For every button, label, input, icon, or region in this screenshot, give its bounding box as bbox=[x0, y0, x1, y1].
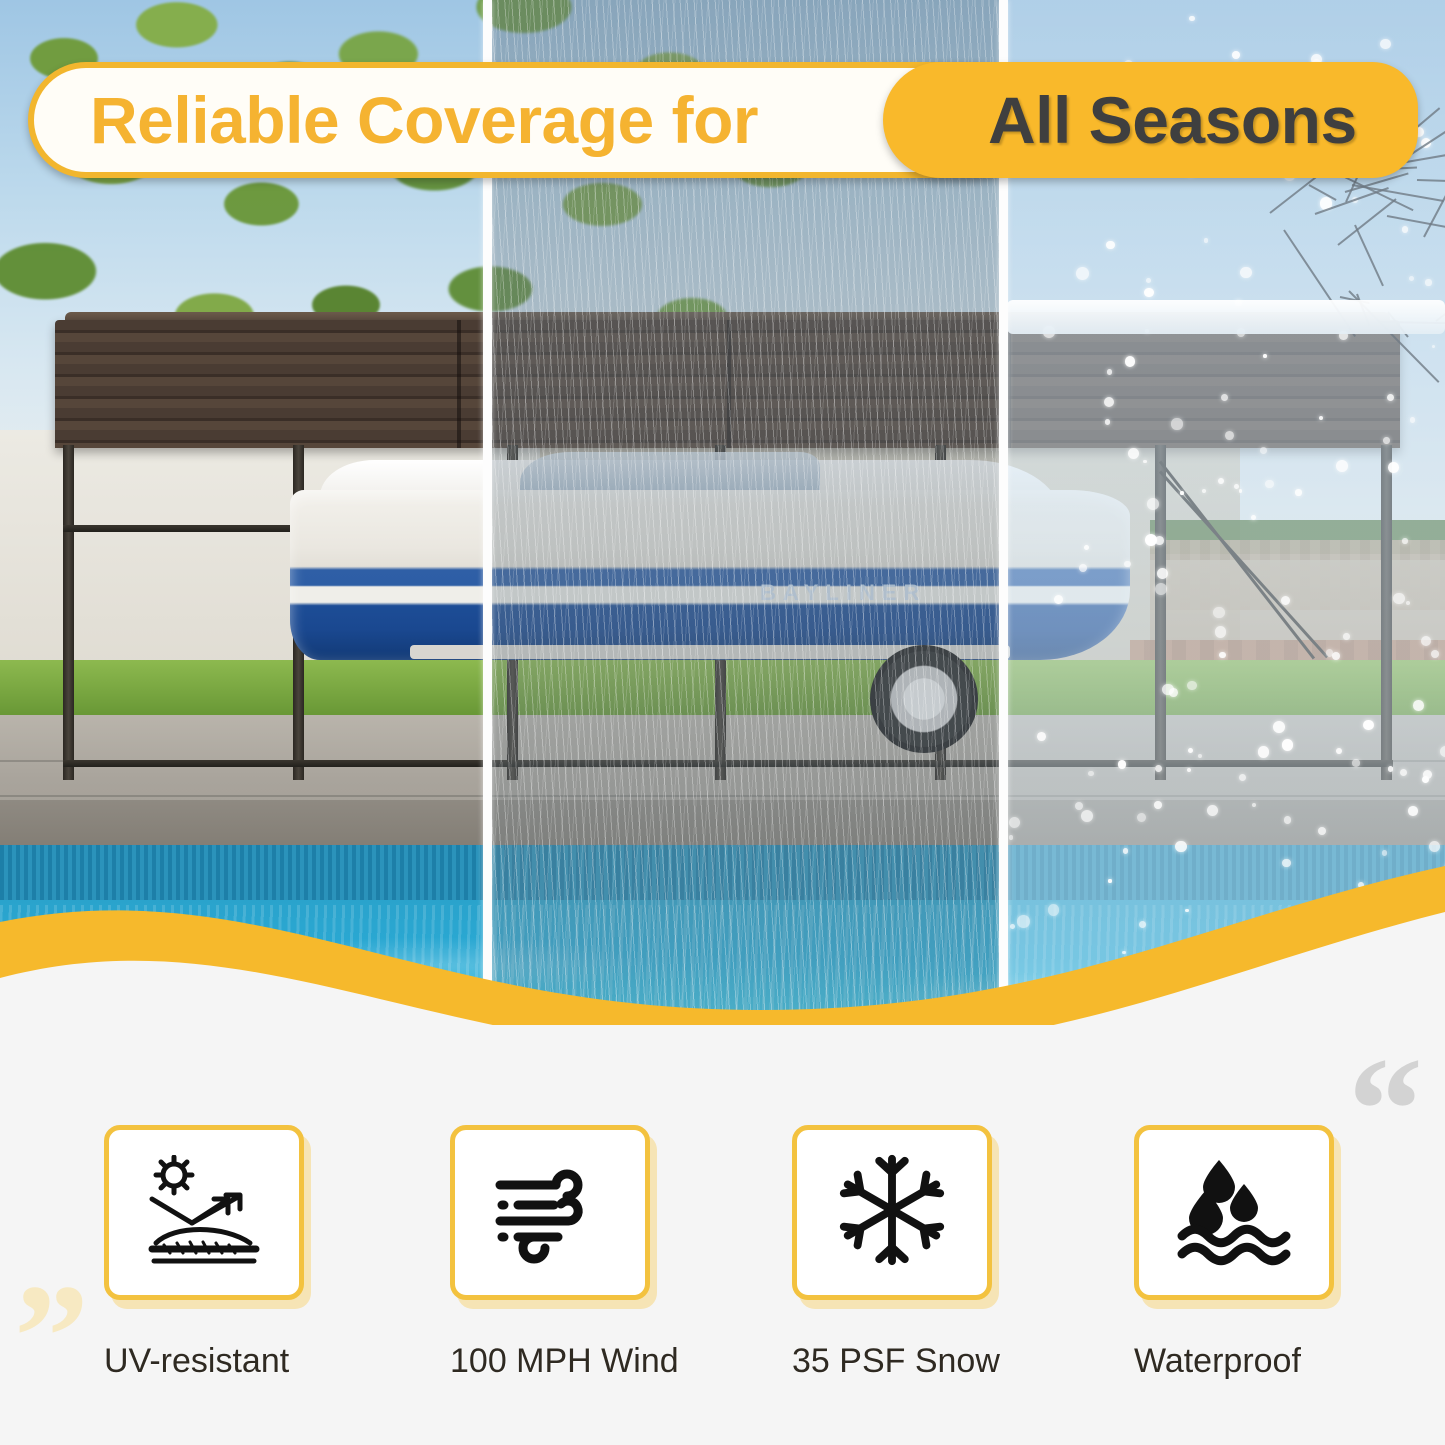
snowflake-dot bbox=[1137, 813, 1147, 823]
snowflake-dot bbox=[1009, 817, 1020, 828]
uv-sun-shield-icon bbox=[144, 1155, 264, 1270]
snowflake-dot bbox=[1104, 397, 1114, 407]
feature-icon-card bbox=[450, 1125, 650, 1300]
snowflake-dot bbox=[1388, 766, 1394, 772]
snowflake-dot bbox=[1343, 633, 1350, 640]
snowflake-dot bbox=[1169, 688, 1178, 697]
snowflake-dot bbox=[1144, 288, 1153, 297]
snowflake-dot bbox=[1218, 478, 1224, 484]
snowflake-dot bbox=[1175, 841, 1186, 852]
snow-on-roof bbox=[1007, 300, 1445, 334]
snowflake-dot bbox=[1263, 354, 1267, 358]
feature-label: 35 PSF Snow bbox=[792, 1342, 1032, 1381]
snowflake-dot bbox=[1106, 241, 1115, 250]
snowflake-dot bbox=[1380, 39, 1390, 49]
snowflake-dot bbox=[1402, 538, 1407, 543]
snowflake-dot bbox=[1143, 460, 1147, 464]
snowflake-dot bbox=[1076, 267, 1089, 280]
snowflake-dot bbox=[1084, 545, 1090, 551]
snowflake-dot bbox=[1155, 536, 1164, 545]
snowflake-dot bbox=[1402, 226, 1408, 232]
water-droplets-icon bbox=[1174, 1154, 1294, 1271]
snowflake-dot bbox=[1251, 515, 1256, 520]
snowflake-dot bbox=[1187, 681, 1197, 691]
snowflake-dot bbox=[1204, 238, 1208, 242]
feature-item: 35 PSF Snow bbox=[792, 1125, 1032, 1381]
feature-icon-card bbox=[1134, 1125, 1334, 1300]
snowflake-dot bbox=[1429, 841, 1440, 852]
snowflake-icon bbox=[833, 1151, 951, 1274]
snowflake-dot bbox=[1282, 739, 1294, 751]
snowflake-dot bbox=[1188, 748, 1193, 753]
snowflake-dot bbox=[1406, 601, 1410, 605]
snowflake-dot bbox=[1421, 636, 1431, 646]
snowflake-dot bbox=[1125, 356, 1136, 367]
snowflake-dot bbox=[1128, 448, 1139, 459]
carport-post bbox=[63, 445, 74, 780]
snowflake-dot bbox=[1409, 276, 1414, 281]
banner-headline-right: All Seasons bbox=[988, 62, 1357, 178]
snowflake-dot bbox=[1422, 776, 1429, 783]
snowflake-dot bbox=[1432, 345, 1435, 348]
snowflake-dot bbox=[1171, 418, 1182, 429]
snowflake-dot bbox=[1431, 650, 1439, 658]
snowflake-dot bbox=[1180, 491, 1184, 495]
feature-label: 100 MPH Wind bbox=[450, 1342, 690, 1381]
roof-seam bbox=[457, 320, 461, 448]
feature-item: UV-resistant bbox=[104, 1125, 344, 1381]
feature-icon-card bbox=[104, 1125, 304, 1300]
snowflake-dot bbox=[1075, 802, 1084, 811]
snowflake-dot bbox=[1202, 489, 1206, 493]
snowflake-dot bbox=[1081, 810, 1093, 822]
snowflake-dot bbox=[1037, 732, 1046, 741]
snowflake-dot bbox=[1400, 769, 1407, 776]
snowflake-dot bbox=[1413, 700, 1424, 711]
snowflake-dot bbox=[1232, 51, 1240, 59]
snowflake-dot bbox=[1382, 850, 1388, 856]
feature-item: Waterproof bbox=[1134, 1125, 1374, 1381]
snowflake-dot bbox=[1352, 759, 1359, 766]
snowflake-dot bbox=[1054, 595, 1063, 604]
snowflake-dot bbox=[1189, 16, 1195, 22]
headline-banner: Reliable Coverage for All Seasons bbox=[28, 62, 1418, 178]
snowflake-dot bbox=[1295, 489, 1301, 495]
snowflake-dot bbox=[1009, 835, 1013, 839]
snowflake-dot bbox=[1079, 564, 1087, 572]
snowflake-dot bbox=[1105, 419, 1111, 425]
snowflake-dot bbox=[1319, 416, 1323, 420]
snowflake-dot bbox=[1336, 460, 1348, 472]
snowflake-dot bbox=[1239, 489, 1243, 493]
snowflake-dot bbox=[1118, 760, 1127, 769]
snowflake-dot bbox=[1240, 267, 1252, 279]
snowflake-dot bbox=[1410, 417, 1415, 422]
snowflake-dot bbox=[1440, 746, 1445, 757]
snowflake-dot bbox=[1363, 720, 1373, 730]
snowflake-dot bbox=[1383, 437, 1390, 444]
snowflake-dot bbox=[1198, 754, 1202, 758]
wind-icon bbox=[490, 1155, 610, 1270]
snowflake-dot bbox=[1225, 431, 1234, 440]
snowflake-dot bbox=[1281, 596, 1290, 605]
snowflake-dot bbox=[1207, 805, 1219, 817]
winter-branch bbox=[1354, 225, 1384, 287]
snowflake-dot bbox=[1273, 721, 1285, 733]
snowflake-dot bbox=[1088, 771, 1094, 777]
snowflake-dot bbox=[1318, 827, 1326, 835]
snowflake-dot bbox=[1234, 484, 1239, 489]
snowflake-dot bbox=[1239, 774, 1246, 781]
snowflake-dot bbox=[1213, 607, 1224, 618]
snowflake-dot bbox=[1124, 561, 1131, 568]
feature-label: UV-resistant bbox=[104, 1342, 344, 1381]
snowflake-dot bbox=[1260, 447, 1267, 454]
snowflake-dot bbox=[1388, 462, 1398, 472]
snowflake-dot bbox=[1155, 583, 1167, 595]
snowflake-dot bbox=[1123, 848, 1129, 854]
feature-item: 100 MPH Wind bbox=[450, 1125, 690, 1381]
snowflake-dot bbox=[1107, 369, 1113, 375]
snowflake-dot bbox=[1252, 803, 1256, 807]
winter-branch bbox=[1338, 198, 1398, 246]
snowflake-dot bbox=[1332, 652, 1340, 660]
snowflake-dot bbox=[1219, 652, 1226, 659]
winter-branch bbox=[1417, 179, 1445, 184]
snowflake-dot bbox=[1284, 816, 1291, 823]
snowflake-dot bbox=[1393, 593, 1404, 604]
winter-branch bbox=[1387, 215, 1445, 241]
snowflake-dot bbox=[1157, 568, 1168, 579]
snowflake-dot bbox=[1425, 279, 1431, 285]
snowflake-dot bbox=[1147, 498, 1159, 510]
snowflake-dot bbox=[1155, 765, 1162, 772]
snowflake-dot bbox=[1215, 626, 1227, 638]
snowflake-dot bbox=[1387, 394, 1394, 401]
snowflake-dot bbox=[1258, 746, 1269, 757]
feature-list: UV-resistant100 MPH Wind35 PSF SnowWater… bbox=[0, 1125, 1445, 1425]
snowflake-dot bbox=[1336, 748, 1342, 754]
snowflake-dot bbox=[1154, 801, 1162, 809]
feature-label: Waterproof bbox=[1134, 1342, 1374, 1381]
banner-headline-left: Reliable Coverage for bbox=[90, 62, 758, 178]
snowflake-dot bbox=[1265, 480, 1274, 489]
snowflake-dot bbox=[1187, 768, 1191, 772]
snowflake-dot bbox=[1146, 278, 1151, 283]
product-feature-image: BAYLINER “ ” UV-resistant100 MPH Wind35 bbox=[0, 0, 1445, 1445]
snowflake-dot bbox=[1408, 806, 1418, 816]
snowflake-dot bbox=[1221, 394, 1229, 402]
feature-icon-card bbox=[792, 1125, 992, 1300]
